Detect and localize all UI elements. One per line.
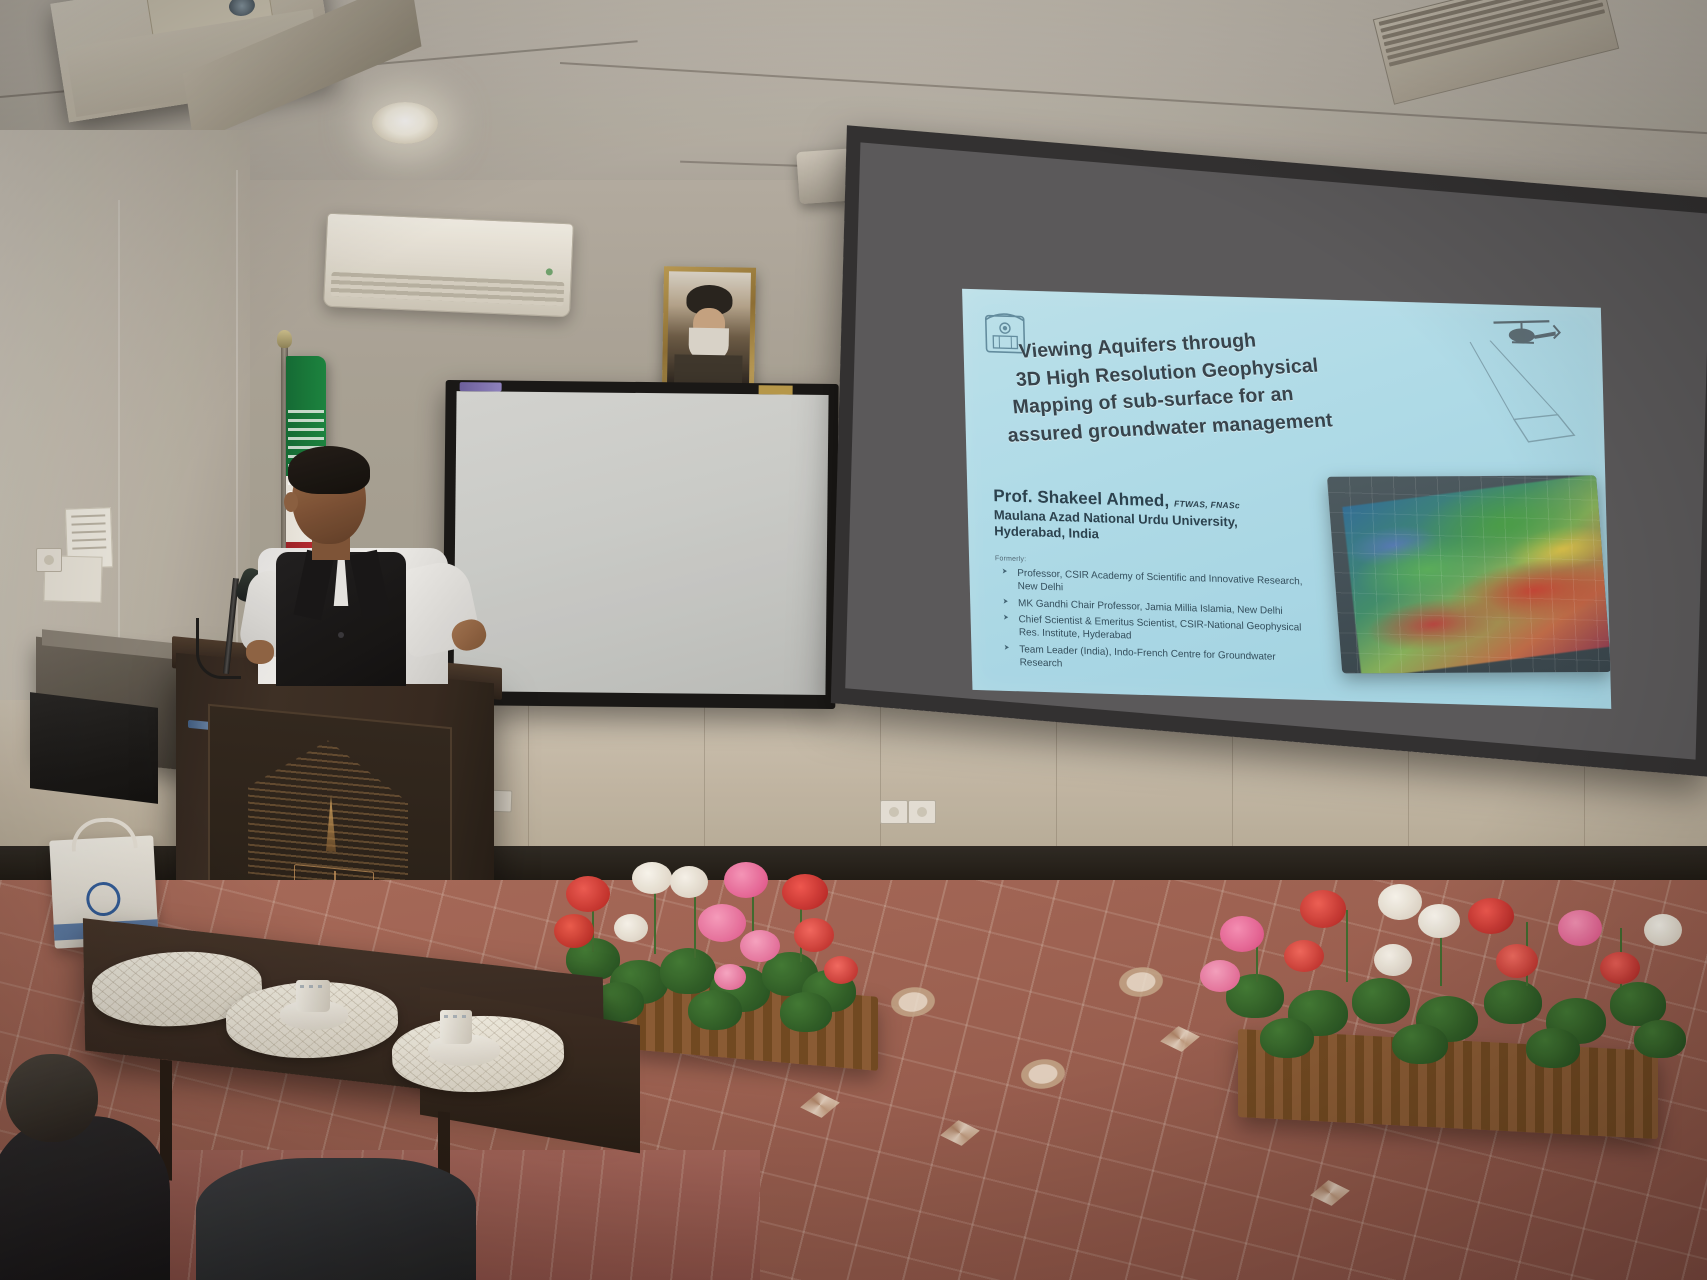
red-geranium-bloom [1468, 898, 1514, 934]
pink-geranium-bloom [714, 964, 746, 990]
interactive-whiteboard[interactable] [442, 380, 838, 709]
slide-presenter-block: Prof. Shakeel Ahmed, FTWAS, FNASc Maulan… [993, 486, 1324, 548]
presenter-vest [276, 552, 406, 686]
flag-finial [277, 330, 292, 348]
red-geranium-bloom [1284, 940, 1324, 972]
map-grid-overlay [1327, 475, 1611, 673]
split-air-conditioner [323, 213, 574, 318]
red-geranium-bloom [1600, 952, 1640, 984]
pink-geranium-bloom [724, 862, 768, 898]
lecture-hall-photo: Viewing Aquifers through 3D High Resolut… [0, 0, 1707, 1280]
portrait-robe [673, 354, 742, 384]
whiteboard-brand-plaque [759, 385, 793, 394]
recessed-ceiling-light [372, 102, 438, 144]
3d-resistivity-map-image [1327, 475, 1611, 673]
ac-louver [331, 272, 565, 306]
presenter-left-hand [246, 640, 274, 664]
presenter-ear [284, 492, 298, 512]
white-geranium-bloom [670, 866, 708, 898]
framed-wall-portrait [662, 266, 756, 390]
red-geranium-bloom [1496, 944, 1538, 978]
audience-member [0, 1116, 170, 1280]
presenter-hair [288, 446, 370, 494]
pink-geranium-bloom [1558, 910, 1602, 946]
ac-status-led [546, 268, 553, 275]
red-geranium-bloom [1300, 890, 1346, 928]
lectern-arch-carving [228, 722, 428, 891]
microphone-cable [196, 618, 241, 679]
red-geranium-bloom [554, 914, 594, 948]
projection-screen: Viewing Aquifers through 3D High Resolut… [831, 125, 1707, 777]
screen-surface: Viewing Aquifers through 3D High Resolut… [845, 142, 1707, 759]
audio-speaker-box [30, 692, 158, 804]
whiteboard-marker-tray [460, 382, 502, 391]
white-geranium-bloom [632, 862, 672, 894]
carpet-medallion [1008, 1049, 1078, 1100]
presentation-slide: Viewing Aquifers through 3D High Resolut… [962, 289, 1611, 709]
geranium-foliage [1196, 878, 1696, 1068]
carpet-medallion [1106, 957, 1176, 1008]
list-item: Team Leader (India), Indo-French Centre … [997, 642, 1313, 677]
red-geranium-bloom [794, 918, 834, 952]
presenter-person [240, 452, 490, 682]
white-geranium-bloom [1378, 884, 1422, 920]
wall-outlet[interactable] [880, 800, 908, 824]
white-geranium-bloom [1644, 914, 1682, 946]
tea-cup [440, 1010, 472, 1044]
white-geranium-bloom [1374, 944, 1412, 976]
tea-cup [296, 980, 330, 1012]
red-geranium-bloom [566, 876, 610, 912]
red-geranium-bloom [782, 874, 828, 910]
presenter-roles-list: Professor, CSIR Academy of Scientific an… [995, 566, 1313, 681]
pink-geranium-bloom [1200, 960, 1240, 992]
wall-outlet[interactable] [36, 548, 62, 572]
carpet-medallion [878, 977, 948, 1028]
formerly-label: Formerly: [995, 555, 1026, 563]
white-geranium-bloom [1418, 904, 1460, 938]
presenter-honours: FTWAS, FNASc [1174, 498, 1240, 510]
pink-geranium-bloom [740, 930, 780, 962]
red-geranium-bloom [824, 956, 858, 984]
wall-outlet[interactable] [908, 800, 936, 824]
pink-geranium-bloom [698, 904, 746, 942]
tote-bag-logo [86, 881, 122, 917]
pink-geranium-bloom [1220, 916, 1264, 952]
whiteboard-surface[interactable] [453, 391, 828, 695]
audience-member [196, 1158, 476, 1280]
white-geranium-bloom [614, 914, 648, 942]
